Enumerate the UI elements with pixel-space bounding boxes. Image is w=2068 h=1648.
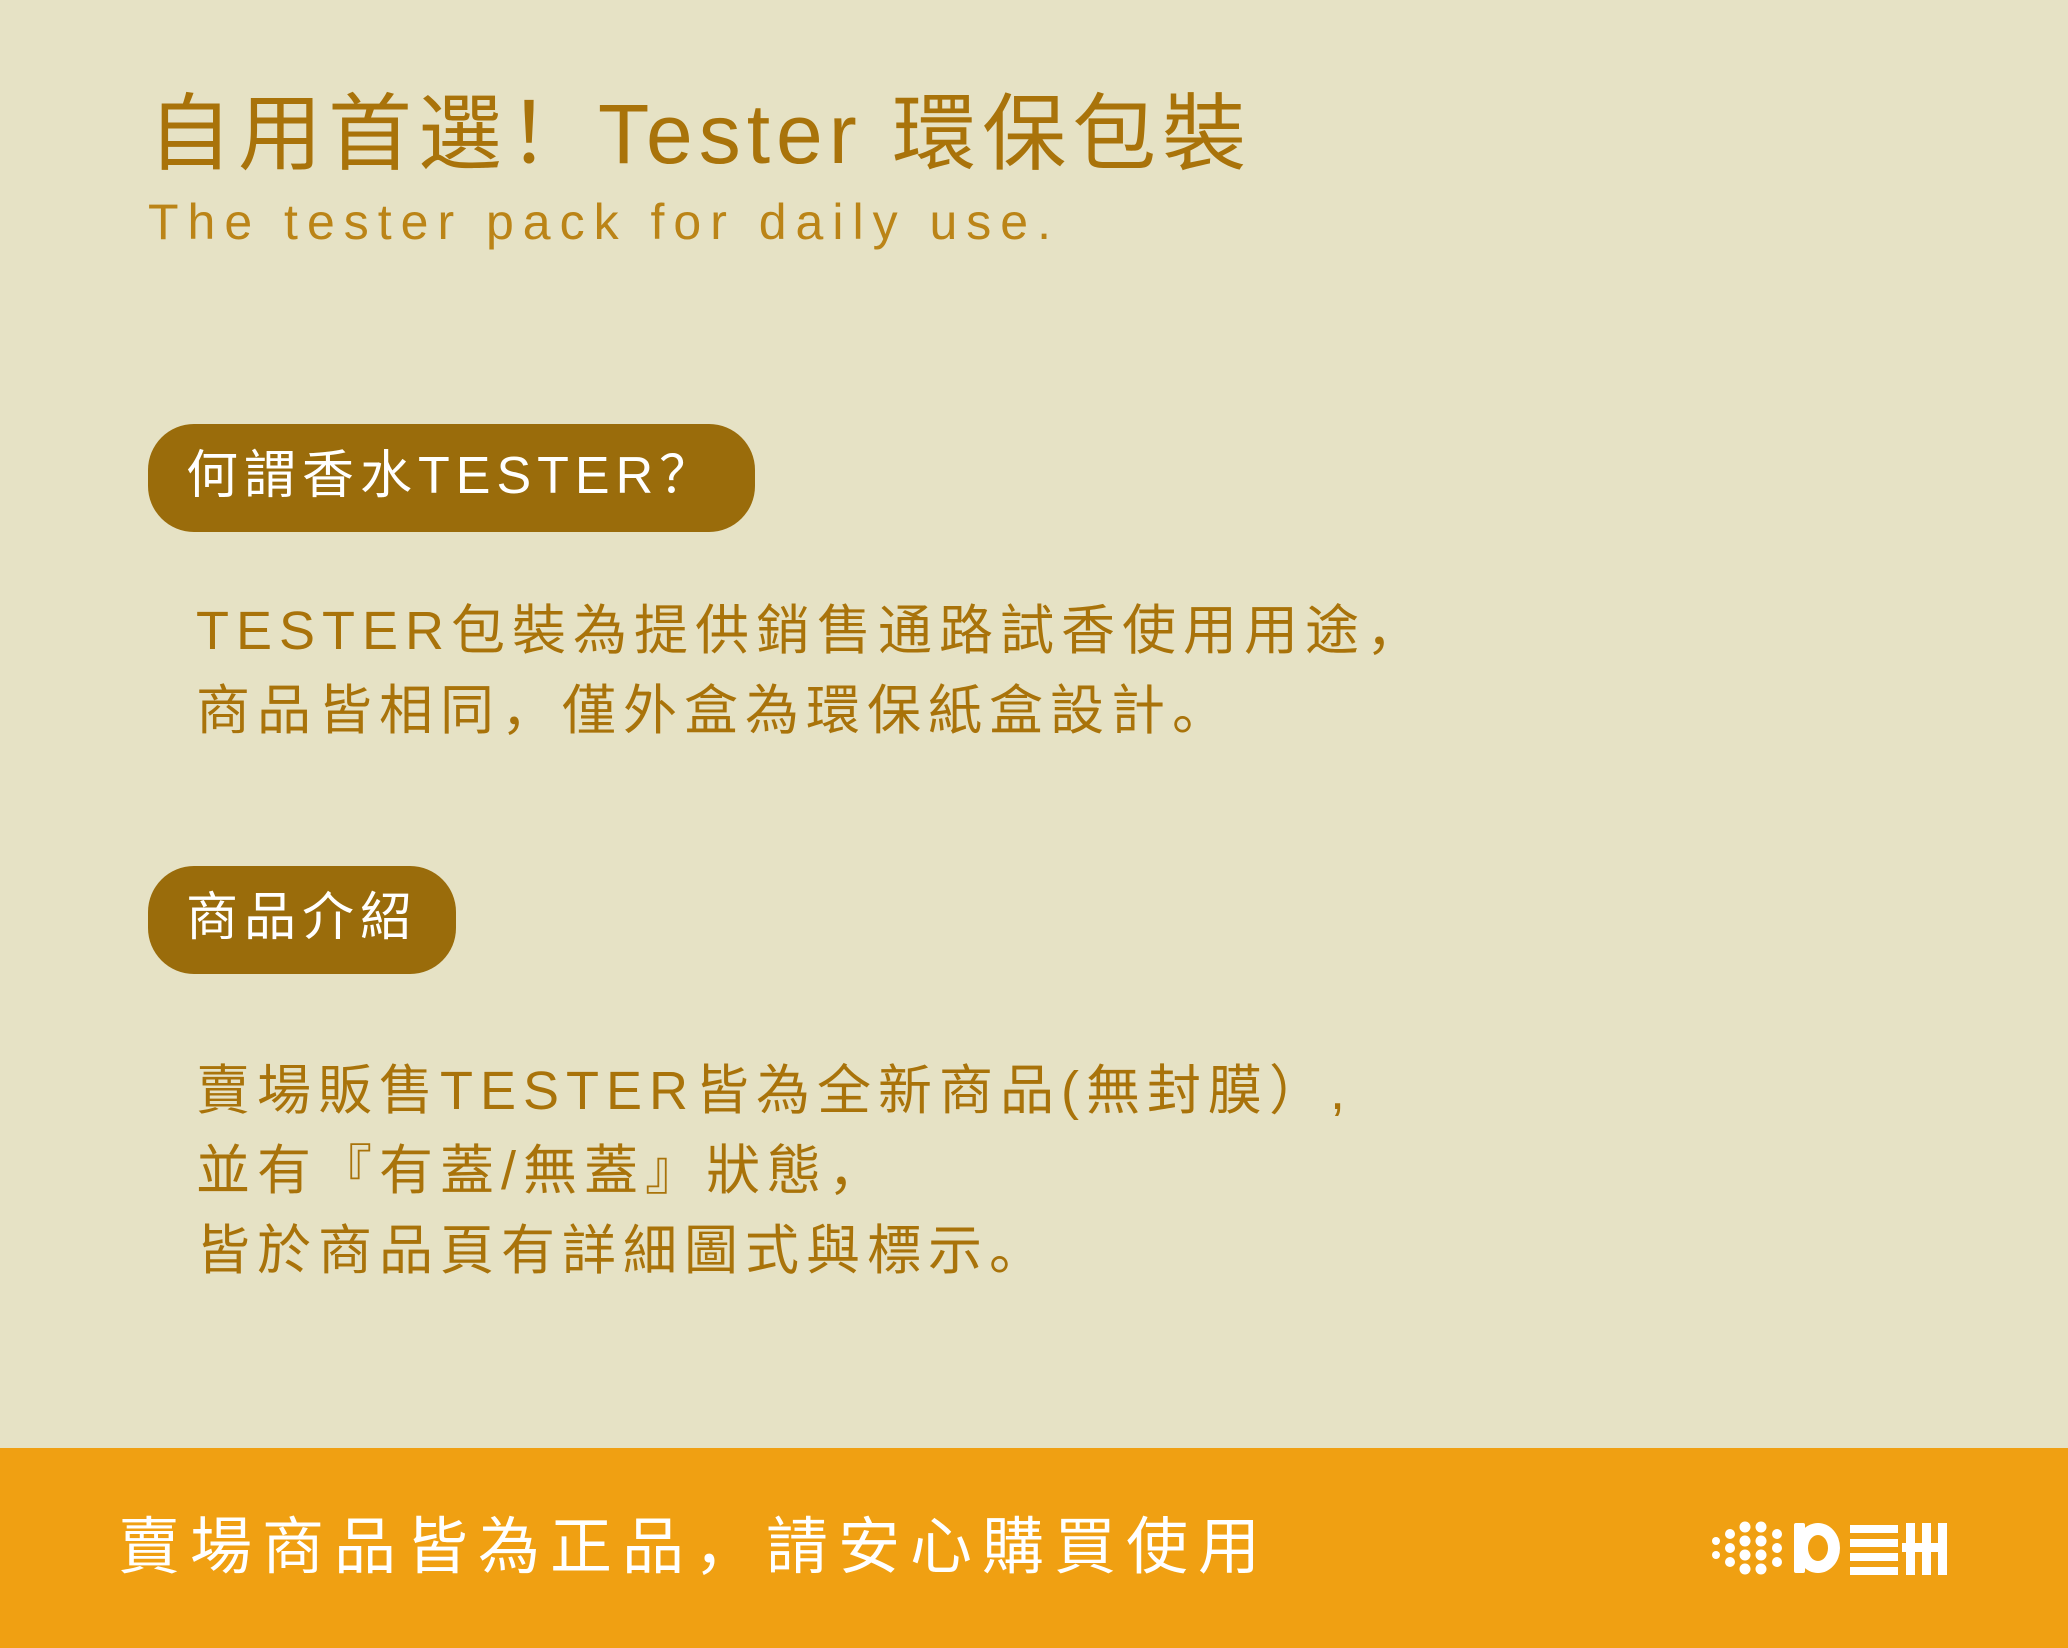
section-heading-pill-product-intro: 商品介紹 xyxy=(148,866,456,974)
promo-banner-page: 自用首選！Tester 環保包裝 The tester pack for dai… xyxy=(0,0,2068,1648)
brand-logo xyxy=(1710,1512,1960,1584)
pill-label: 何謂香水TESTER？ xyxy=(186,450,717,502)
page-header: 自用首選！Tester 環保包裝 The tester pack for dai… xyxy=(148,92,1948,248)
page-subtitle: The tester pack for daily use. xyxy=(148,196,1948,249)
body-line: 並有『有蓋/無蓋』狀態， xyxy=(196,1132,1352,1212)
body-line: 賣場販售TESTER皆為全新商品(無封膜）, xyxy=(196,1052,1352,1132)
body-line: TESTER包裝為提供銷售通路試香使用用途， xyxy=(196,592,1427,672)
section-heading-pill-what-is-tester: 何謂香水TESTER？ xyxy=(148,424,755,532)
section-body-what-is-tester: TESTER包裝為提供銷售通路試香使用用途， 商品皆相同，僅外盒為環保紙盒設計。 xyxy=(196,592,1427,752)
pill-label: 商品介紹 xyxy=(186,892,418,944)
body-line: 皆於商品頁有詳細圖式與標示。 xyxy=(196,1212,1352,1292)
banner-message: 賣場商品皆為正品，請安心購買使用 xyxy=(118,1517,1270,1579)
page-title: 自用首選！Tester 環保包裝 xyxy=(148,92,1948,178)
section-body-product-intro: 賣場販售TESTER皆為全新商品(無封膜）, 並有『有蓋/無蓋』狀態， 皆於商品… xyxy=(196,1052,1352,1292)
bottom-banner: 賣場商品皆為正品，請安心購買使用 xyxy=(0,1448,2068,1648)
body-line: 商品皆相同，僅外盒為環保紙盒設計。 xyxy=(196,672,1427,752)
